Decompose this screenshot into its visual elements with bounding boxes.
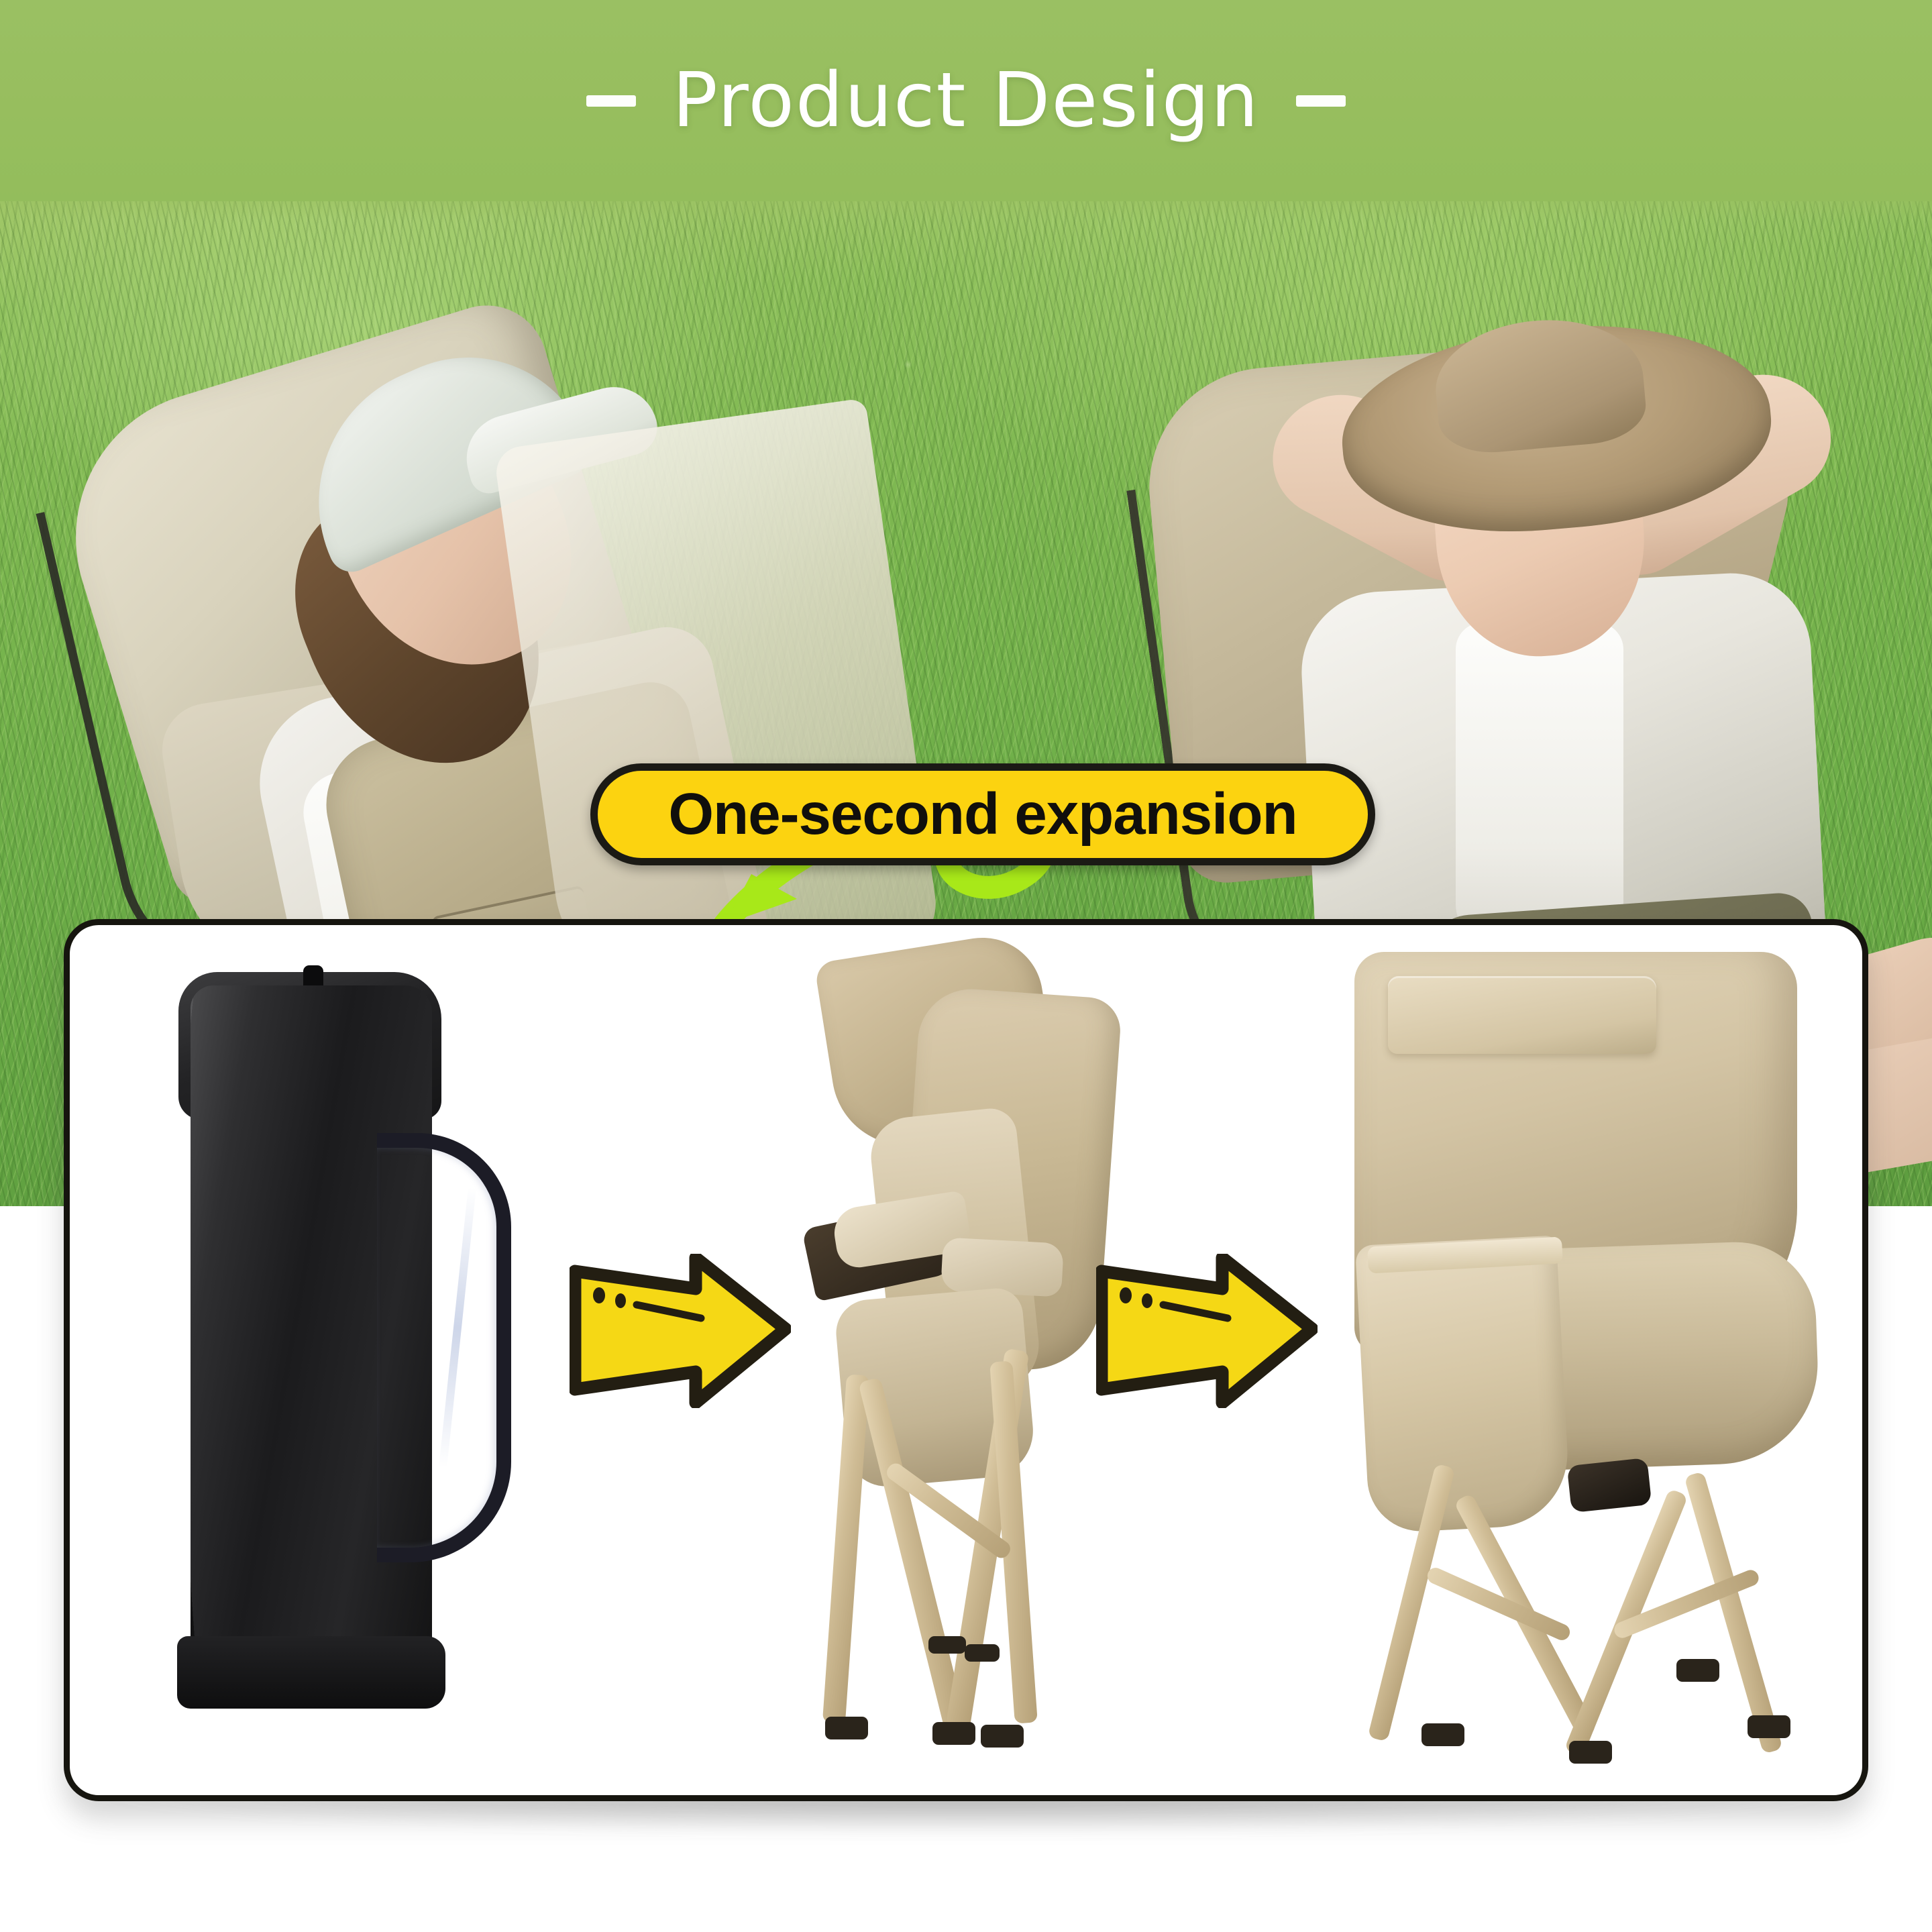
unfolded-chair-foot-front-left [1421, 1723, 1464, 1746]
unfolded-chair-foot-rear-left [1676, 1659, 1719, 1682]
product-step-folded-chair [801, 945, 1123, 1770]
product-design-infographic: Product Design [0, 0, 1932, 1932]
folded-chair-foot-3 [981, 1725, 1024, 1748]
right-woman-shirt [1456, 623, 1623, 945]
carry-bag-shoulder-strap [377, 1133, 511, 1562]
folded-chair-hinge-clip-1 [928, 1636, 966, 1654]
folded-chair-armrest-right [941, 1237, 1064, 1297]
one-second-expansion-badge: One-second expansion [590, 763, 1375, 865]
product-stages-panel [64, 919, 1868, 1801]
unfolded-chair-leg-rear-right [1684, 1471, 1782, 1754]
folded-chair-leg-1 [822, 1374, 869, 1723]
product-step-carry-bag [150, 965, 526, 1743]
step-arrow-2-icon [1096, 1254, 1318, 1408]
folded-chair-foot-1 [825, 1717, 868, 1739]
carry-bag-bottom [177, 1636, 445, 1709]
unfolded-chair-foot-rear-right [1748, 1715, 1790, 1738]
unfolded-chair-center-hinge [1567, 1458, 1652, 1513]
page-header: Product Design [0, 0, 1932, 201]
folded-chair-hinge-clip-2 [965, 1644, 1000, 1662]
header-dash-left-icon [586, 95, 636, 107]
header-dash-right-icon [1296, 95, 1346, 107]
unfolded-chair-headrest-pillow [1388, 976, 1656, 1054]
step-arrow-1-icon [570, 1254, 791, 1408]
page-title: Product Design [672, 57, 1260, 144]
product-step-unfolded-chair [1348, 952, 1817, 1770]
badge-label: One-second expansion [668, 781, 1297, 848]
folded-chair-foot-2 [932, 1722, 975, 1745]
unfolded-chair-foot-front-right [1569, 1741, 1612, 1764]
unfolded-chair-side-pocket [1355, 1235, 1571, 1534]
